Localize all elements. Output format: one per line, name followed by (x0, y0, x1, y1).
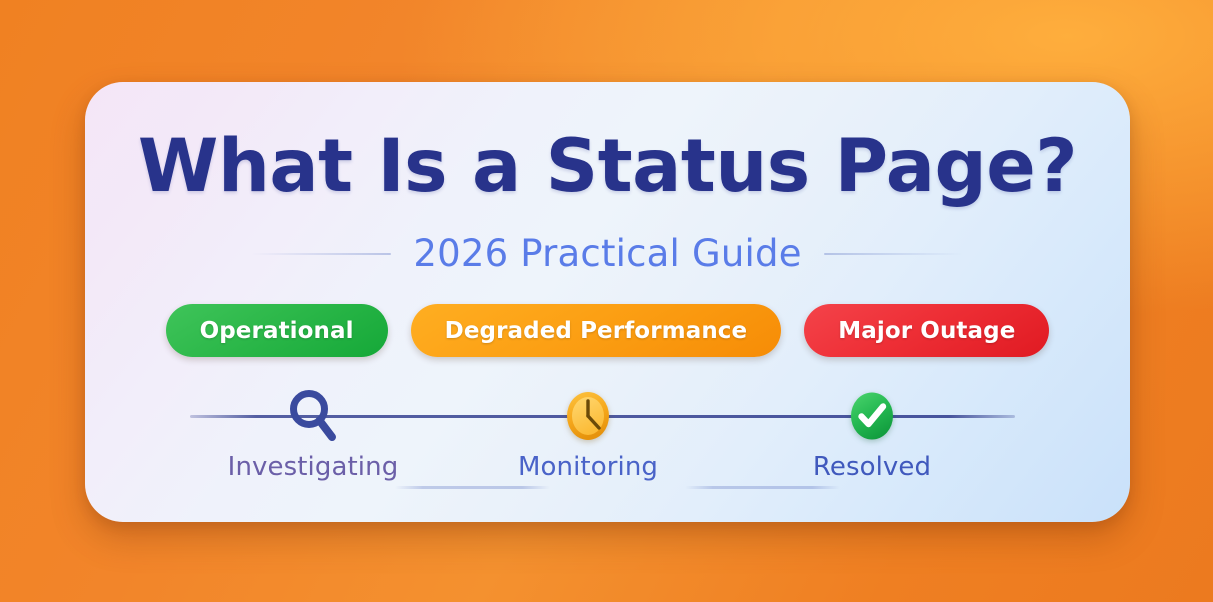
check-circle-icon-wrap (777, 382, 967, 450)
clock-icon (560, 387, 616, 445)
timeline-step-label-resolved: Resolved (777, 452, 967, 482)
status-badge-group: Operational Degraded Performance Major O… (85, 304, 1130, 357)
check-circle-icon (844, 387, 900, 445)
timeline-step-label-monitoring: Monitoring (493, 452, 683, 482)
status-badge-degraded-performance[interactable]: Degraded Performance (411, 304, 782, 357)
timeline-step-investigating[interactable]: Investigating (218, 382, 408, 482)
timeline-step-monitoring[interactable]: Monitoring (493, 382, 683, 482)
infographic-card: What Is a Status Page? 2026 Practical Gu… (85, 82, 1130, 522)
page-title: What Is a Status Page? (85, 130, 1130, 203)
incident-timeline: Investigating (85, 382, 1130, 502)
magnifier-icon (285, 387, 341, 445)
clock-icon-wrap (493, 382, 683, 450)
timeline-step-resolved[interactable]: Resolved (777, 382, 967, 482)
status-badge-major-outage[interactable]: Major Outage (804, 304, 1049, 357)
page-subtitle: 2026 Practical Guide (413, 232, 801, 275)
timeline-label-rule-1 (395, 486, 550, 489)
magnifier-icon-wrap (218, 382, 408, 450)
subtitle-rule-right (824, 253, 964, 255)
subtitle-row: 2026 Practical Guide (85, 232, 1130, 275)
subtitle-rule-left (251, 253, 391, 255)
timeline-label-rule-2 (685, 486, 840, 489)
status-badge-operational[interactable]: Operational (166, 304, 388, 357)
timeline-step-label-investigating: Investigating (218, 452, 408, 482)
